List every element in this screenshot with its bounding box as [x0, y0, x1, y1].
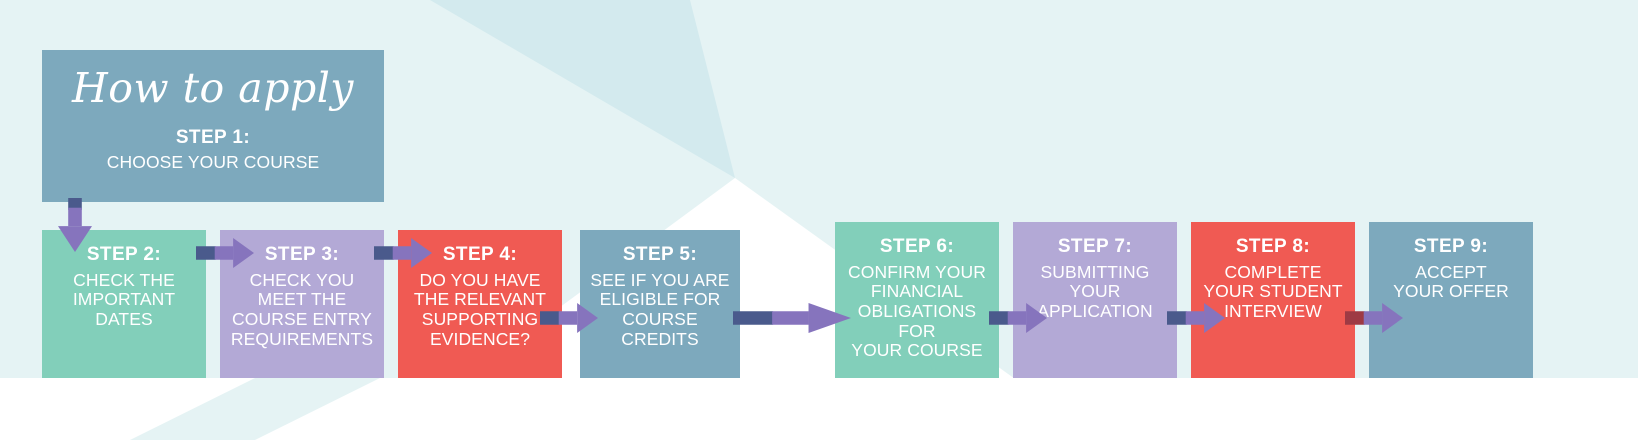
- step-3-description-line: MEET THE: [231, 290, 373, 310]
- arrow-step6-step7-tail: [989, 311, 1009, 325]
- step-9-description-line: ACCEPT: [1393, 263, 1509, 283]
- arrow-step4-step5-glyph: [540, 303, 598, 333]
- arrow-step3-step4-tail: [374, 246, 394, 260]
- step-box-step-6[interactable]: STEP 6:CONFIRM YOURFINANCIALOBLIGATIONS …: [835, 222, 999, 378]
- step-7-description: SUBMITTINGYOURAPPLICATION: [1037, 263, 1153, 322]
- arrow-step3-step4-shaft: [393, 246, 411, 260]
- step-6-description: CONFIRM YOURFINANCIALOBLIGATIONS FORYOUR…: [841, 263, 993, 361]
- arrow-step6-step7-head: [1026, 303, 1047, 333]
- step-7-title: STEP 7:: [1037, 236, 1153, 258]
- step-7-description-line: YOUR: [1037, 282, 1153, 302]
- step-6-description-line: YOUR COURSE: [841, 341, 993, 361]
- arrow-step2-step3-tail: [196, 246, 216, 260]
- arrow-step5-step6: [733, 303, 851, 333]
- step-9-content: STEP 9:ACCEPTYOUR OFFER: [1387, 236, 1515, 302]
- arrow-step8-step9-shaft: [1364, 311, 1382, 325]
- arrow-step3-step4-head: [411, 238, 432, 268]
- arrow-step5-step6-shaft: [772, 311, 808, 325]
- step-4-description-line: DO YOU HAVE: [414, 271, 546, 291]
- arrow-step7-step8-head: [1204, 303, 1225, 333]
- step-4-description-line: THE RELEVANT: [414, 290, 546, 310]
- step-box-step-7[interactable]: STEP 7:SUBMITTINGYOURAPPLICATION: [1013, 222, 1177, 378]
- step-3-description-line: REQUIREMENTS: [231, 330, 373, 350]
- step-8-description-line: COMPLETE: [1203, 263, 1342, 283]
- step-7-description-line: SUBMITTING: [1037, 263, 1153, 283]
- arrow-step2-step3-shaft: [215, 246, 233, 260]
- step-3-description-line: COURSE ENTRY: [231, 310, 373, 330]
- step-3-description: CHECK YOUMEET THECOURSE ENTRYREQUIREMENT…: [231, 271, 373, 349]
- step-4-description: DO YOU HAVETHE RELEVANTSUPPORTINGEVIDENC…: [414, 271, 546, 349]
- step-box-step-1[interactable]: How to apply STEP 1: CHOOSE YOUR COURSE: [42, 50, 384, 202]
- step-6-description-line: OBLIGATIONS FOR: [841, 302, 993, 341]
- step-4-title: STEP 4:: [414, 244, 546, 266]
- step-3-description-line: CHECK YOU: [231, 271, 373, 291]
- how-to-apply-infographic: How to apply STEP 1: CHOOSE YOUR COURSE …: [0, 0, 1638, 440]
- step-6-content: STEP 6:CONFIRM YOURFINANCIALOBLIGATIONS …: [835, 236, 999, 361]
- arrow-step7-step8: [1167, 303, 1225, 333]
- step-1-description: CHOOSE YOUR COURSE: [107, 153, 319, 173]
- arrow-step5-step6-glyph: [733, 303, 851, 333]
- step-7-description-line: APPLICATION: [1037, 302, 1153, 322]
- arrow-step2-step3: [196, 238, 254, 268]
- step-6-description-line: CONFIRM YOUR: [841, 263, 993, 283]
- step-5-content: STEP 5:SEE IF YOU AREELIGIBLE FORCOURSE …: [580, 244, 740, 349]
- arrow-step1-step2-head: [58, 226, 92, 252]
- arrow-step4-step5: [540, 303, 598, 333]
- step-8-title: STEP 8:: [1203, 236, 1342, 258]
- step-box-step-8[interactable]: STEP 8:COMPLETEYOUR STUDENTINTERVIEW: [1191, 222, 1355, 378]
- step-box-step-5[interactable]: STEP 5:SEE IF YOU AREELIGIBLE FORCOURSE …: [580, 230, 740, 378]
- arrow-step8-step9-tail: [1345, 311, 1365, 325]
- step-box-step-9[interactable]: STEP 9:ACCEPTYOUR OFFER: [1369, 222, 1533, 378]
- step-9-description-line: YOUR OFFER: [1393, 282, 1509, 302]
- arrow-step3-step4-glyph: [374, 238, 432, 268]
- arrow-step6-step7: [989, 303, 1047, 333]
- arrow-step7-step8-glyph: [1167, 303, 1225, 333]
- arrow-step5-step6-head: [809, 303, 851, 333]
- arrow-step7-step8-shaft: [1186, 311, 1204, 325]
- step-5-description-line: ELIGIBLE FOR: [586, 290, 734, 310]
- arrow-step6-step7-shaft: [1008, 311, 1026, 325]
- arrow-step7-step8-tail: [1167, 311, 1187, 325]
- step-5-description: SEE IF YOU AREELIGIBLE FORCOURSE CREDITS: [586, 271, 734, 349]
- step-5-description-line: COURSE CREDITS: [586, 310, 734, 349]
- step-box-step-2[interactable]: STEP 2:CHECK THEIMPORTANTDATES: [42, 230, 206, 378]
- arrow-step1-step2-glyph: [58, 198, 92, 252]
- step-4-description-line: EVIDENCE?: [414, 330, 546, 350]
- arrow-step4-step5-tail: [540, 311, 560, 325]
- arrow-step3-step4: [374, 238, 432, 268]
- step-6-description-line: FINANCIAL: [841, 282, 993, 302]
- arrow-step4-step5-shaft: [559, 311, 577, 325]
- step-2-description-line: CHECK THE: [73, 271, 175, 291]
- step-4-description-line: SUPPORTING: [414, 310, 546, 330]
- arrow-step4-step5-head: [577, 303, 598, 333]
- step-2-description-line: IMPORTANT: [73, 290, 175, 310]
- arrow-step2-step3-head: [233, 238, 254, 268]
- step-9-description: ACCEPTYOUR OFFER: [1393, 263, 1509, 302]
- arrow-step1-step2: [58, 198, 92, 252]
- step-2-description: CHECK THEIMPORTANTDATES: [73, 271, 175, 330]
- step-1-title: STEP 1:: [107, 127, 319, 149]
- arrow-step6-step7-glyph: [989, 303, 1047, 333]
- arrow-step1-step2-shaft: [68, 208, 82, 226]
- step-6-title: STEP 6:: [841, 236, 993, 258]
- hero-title: How to apply: [72, 68, 354, 109]
- step-2-description-line: DATES: [73, 310, 175, 330]
- step-2-content: STEP 2:CHECK THEIMPORTANTDATES: [67, 244, 181, 330]
- arrow-step5-step6-tail: [733, 311, 773, 325]
- step-5-description-line: SEE IF YOU ARE: [586, 271, 734, 291]
- step-7-content: STEP 7:SUBMITTINGYOURAPPLICATION: [1031, 236, 1159, 322]
- arrow-step8-step9: [1345, 303, 1403, 333]
- step-9-title: STEP 9:: [1393, 236, 1509, 258]
- arrow-step8-step9-head: [1382, 303, 1403, 333]
- step-8-description-line: YOUR STUDENT: [1203, 282, 1342, 302]
- arrow-step8-step9-glyph: [1345, 303, 1403, 333]
- arrow-step2-step3-glyph: [196, 238, 254, 268]
- step-5-title: STEP 5:: [586, 244, 734, 266]
- step-1-content: STEP 1: CHOOSE YOUR COURSE: [101, 127, 325, 172]
